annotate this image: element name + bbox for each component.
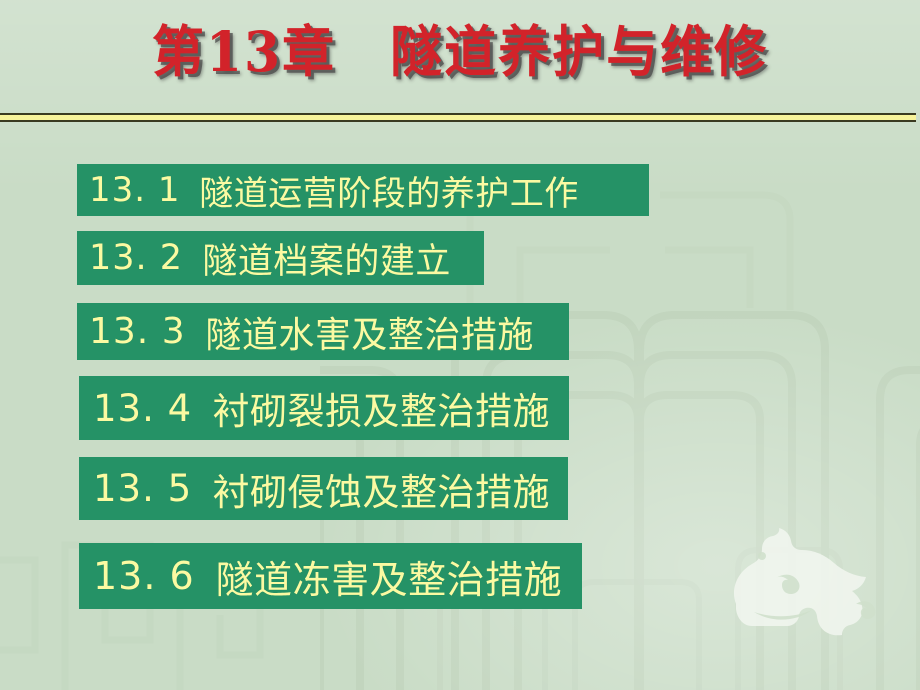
jade-dragon-ornament-icon (706, 508, 902, 658)
agenda-item-13-3[interactable]: 13. 3 隧道水害及整治措施 (77, 303, 569, 360)
agenda-item-13-5[interactable]: 13. 5 衬砌侵蚀及整治措施 (79, 457, 568, 520)
agenda-item-label: 衬砌侵蚀及整治措施 (213, 462, 551, 516)
agenda-item-label: 隧道运营阶段的养护工作 (199, 166, 579, 215)
presentation-slide: 第13章 隧道养护与维修 13. 1 隧道运营阶段的养护工作 13. 2 隧道档… (0, 0, 920, 690)
title-divider (0, 113, 916, 122)
agenda-item-number: 13. 3 (89, 311, 186, 352)
agenda-item-13-1[interactable]: 13. 1 隧道运营阶段的养护工作 (77, 164, 649, 216)
agenda-item-label: 衬砌裂损及整治措施 (213, 381, 551, 435)
agenda-item-number: 13. 4 (93, 387, 192, 430)
page-title: 第13章 隧道养护与维修 (152, 22, 768, 84)
agenda-item-number: 13. 5 (93, 467, 192, 510)
agenda-item-13-6[interactable]: 13. 6 隧道冻害及整治措施 (79, 543, 582, 609)
title-area: 第13章 隧道养护与维修 (0, 24, 920, 82)
agenda-item-label: 隧道档案的建立 (202, 233, 451, 284)
agenda-item-label: 隧道冻害及整治措施 (216, 549, 563, 604)
agenda-item-number: 13. 1 (89, 170, 181, 210)
agenda-item-number: 13. 6 (93, 554, 195, 598)
agenda-item-13-2[interactable]: 13. 2 隧道档案的建立 (77, 231, 484, 285)
agenda-item-13-4[interactable]: 13. 4 衬砌裂损及整治措施 (79, 376, 569, 440)
agenda-item-label: 隧道水害及整治措施 (205, 306, 534, 358)
agenda-item-number: 13. 2 (89, 238, 183, 278)
